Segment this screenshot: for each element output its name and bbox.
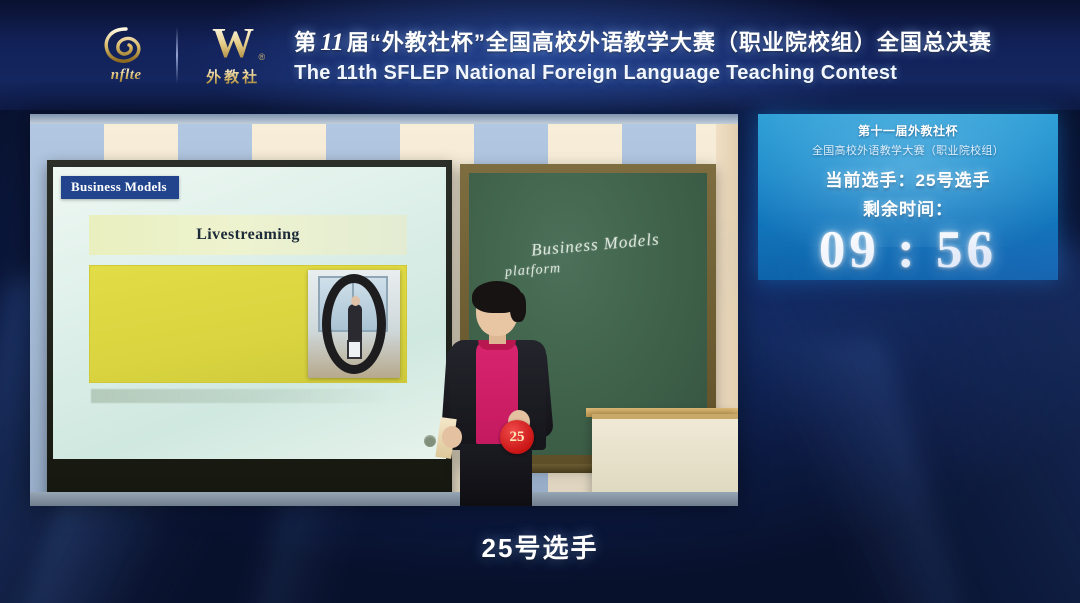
- presenter: 25: [434, 286, 556, 506]
- chalk-writing-line2: platform: [505, 261, 562, 281]
- contestant-number-badge: 25: [500, 420, 534, 454]
- presenter-hair-side: [510, 292, 526, 322]
- broadcast-stage: nflte W ® 外教社 第11届“外教社杯”全国高校外语教学大赛（职业院校组…: [0, 0, 1080, 603]
- spiral-icon: [101, 26, 151, 66]
- slide-caption-blur: [91, 389, 391, 403]
- logo-divider: [176, 27, 178, 83]
- remaining-time-label: 剩余时间：: [812, 195, 1004, 220]
- contestant-number: 25: [510, 429, 525, 446]
- inset-person-head: [351, 296, 360, 306]
- classroom-video-feed[interactable]: Business Models Livestreaming: [30, 114, 738, 506]
- title-chinese: 第11届“外教社杯”全国高校外语教学大赛（职业院校组）全国总决赛: [294, 25, 992, 57]
- inset-phone-icon: [347, 340, 362, 359]
- title-edition-number: 11: [317, 29, 347, 56]
- sflep-wordmark: 外教社: [206, 66, 260, 87]
- title-banner: nflte W ® 外教社 第11届“外教社杯”全国高校外语教学大赛（职业院校组…: [0, 0, 1080, 110]
- presenter-hand-left: [442, 426, 462, 448]
- whiteboard-frame: Business Models Livestreaming: [47, 160, 452, 506]
- slide-inset-photo: [308, 270, 400, 378]
- timer-heading-group: 第十一届外教社杯 全国高校外语教学大赛（职业院校组） 当前选手：25号选手 剩余…: [812, 122, 1004, 278]
- ceiling-strip: [30, 114, 738, 124]
- countdown-clock: 09 : 56: [812, 222, 1004, 278]
- light-beam-right: [733, 338, 974, 603]
- current-contestant-label: 当前选手：25号选手: [812, 166, 1004, 191]
- slide-content-box: [89, 265, 407, 383]
- slide-title: Livestreaming: [196, 226, 300, 244]
- timer-contest-subtitle: 全国高校外语教学大赛（职业院校组）: [812, 142, 1004, 158]
- title-group: 第11届“外教社杯”全国高校外语教学大赛（职业院校组）全国总决赛 The 11t…: [294, 25, 992, 85]
- title-chinese-prefix: 第: [294, 30, 317, 55]
- registered-icon: ®: [259, 52, 266, 62]
- title-chinese-suffix: 届“外教社杯”全国高校外语教学大赛（职业院校组）全国总决赛: [347, 30, 992, 55]
- slide-section-tab: Business Models: [61, 176, 179, 199]
- inset-person-body: [348, 304, 362, 342]
- nflte-logo: nflte: [88, 19, 164, 91]
- lower-third-caption: 25号选手: [0, 528, 1080, 565]
- slide-title-band: Livestreaming: [89, 215, 407, 255]
- title-english: The 11th SFLEP National Foreign Language…: [294, 62, 897, 85]
- w-mark: W ®: [205, 24, 261, 64]
- presentation-slide: Business Models Livestreaming: [53, 167, 446, 459]
- sflep-logo: W ® 外教社: [190, 19, 276, 91]
- logo-group: nflte W ® 外教社: [88, 19, 276, 91]
- floor-strip: [30, 492, 738, 506]
- timer-panel: 第十一届外教社杯 全国高校外语教学大赛（职业院校组） 当前选手：25号选手 剩余…: [758, 114, 1058, 280]
- right-wall-panel: [716, 124, 738, 506]
- w-glyph: W: [205, 24, 261, 64]
- chalk-writing-line1: Business Models: [530, 229, 660, 260]
- nflte-wordmark: nflte: [111, 67, 142, 84]
- timer-contest-title: 第十一届外教社杯: [812, 122, 1004, 139]
